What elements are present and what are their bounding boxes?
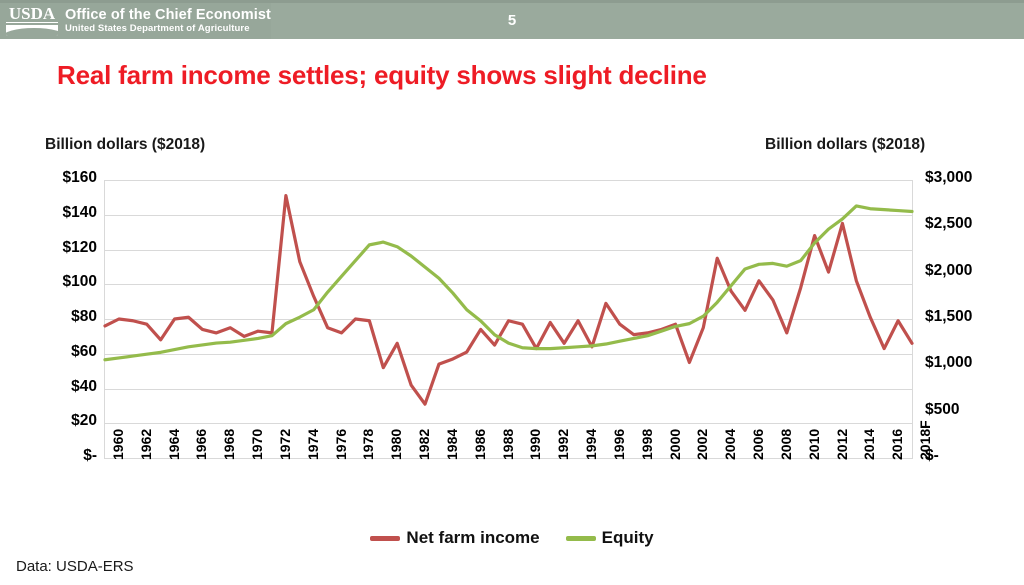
- x-axis-tick-label: 1988: [500, 429, 516, 460]
- right-axis-ticks: $3,000$2,500$2,000$1,500$1,000$500$-: [925, 180, 1020, 458]
- right-axis-tick-label: $2,500: [925, 215, 972, 233]
- x-axis-tick-label: 1964: [166, 429, 182, 460]
- series-line-equity: [105, 206, 912, 360]
- left-axis-caption: Billion dollars ($2018): [45, 136, 205, 154]
- legend-item[interactable]: Net farm income: [370, 528, 539, 548]
- left-axis-ticks: $160$140$120$100$80$60$40$20$-: [25, 180, 97, 458]
- header-bar: 5 USDA Office of the Chief Economist Uni…: [0, 0, 1024, 39]
- office-title: Office of the Chief Economist: [65, 8, 271, 23]
- x-axis-ticks: 1960196219641966196819701972197419761978…: [104, 460, 913, 524]
- x-axis-tick-label: 1974: [305, 429, 321, 460]
- x-axis-tick-label: 2000: [667, 429, 683, 460]
- right-axis-tick-label: $1,000: [925, 354, 972, 372]
- plot-area: [104, 180, 913, 458]
- x-axis-tick-label: 1976: [333, 429, 349, 460]
- left-axis-tick-label: $60: [71, 343, 97, 361]
- x-axis-tick-label: 2010: [806, 429, 822, 460]
- legend-item[interactable]: Equity: [566, 528, 654, 548]
- x-axis-tick-label: 1992: [555, 429, 571, 460]
- line-chart: $160$140$120$100$80$60$40$20$- $3,000$2,…: [0, 168, 1024, 468]
- x-axis-tick-label: 1980: [388, 429, 404, 460]
- x-axis-tick-label: 1978: [360, 429, 376, 460]
- x-axis-tick-label: 1960: [110, 429, 126, 460]
- x-axis-tick-label: 2012: [834, 429, 850, 460]
- x-axis-tick-label: 2014: [861, 429, 877, 460]
- header-branding: USDA Office of the Chief Economist Unite…: [0, 3, 271, 39]
- x-axis-tick-label: 1984: [444, 429, 460, 460]
- right-axis-tick-label: $1,500: [925, 308, 972, 326]
- left-axis-tick-label: $100: [63, 273, 97, 291]
- legend-label: Net farm income: [406, 528, 539, 548]
- page-title: Real farm income settles; equity shows s…: [57, 60, 707, 91]
- x-axis-tick-label: 1968: [221, 429, 237, 460]
- x-axis-tick-label: 2006: [750, 429, 766, 460]
- x-axis-tick-label: 2004: [722, 429, 738, 460]
- x-axis-tick-label: 1970: [249, 429, 265, 460]
- left-axis-tick-label: $120: [63, 239, 97, 257]
- x-axis-tick-label: 1996: [611, 429, 627, 460]
- left-axis-tick-label: $160: [63, 169, 97, 187]
- left-axis-tick-label: $40: [71, 378, 97, 396]
- x-axis-tick-label: 1986: [472, 429, 488, 460]
- usda-wordmark: USDA: [6, 6, 58, 23]
- x-axis-tick-label: 1982: [416, 429, 432, 460]
- left-axis-tick-label: $80: [71, 308, 97, 326]
- chart-legend: Net farm incomeEquity: [0, 528, 1024, 548]
- plot-svg: [104, 180, 913, 458]
- office-block: Office of the Chief Economist United Sta…: [65, 8, 271, 34]
- data-source-note: Data: USDA-ERS: [16, 558, 134, 575]
- right-axis-caption: Billion dollars ($2018): [765, 136, 925, 154]
- x-axis-tick-label: 2002: [694, 429, 710, 460]
- x-axis-tick-label: 1998: [639, 429, 655, 460]
- x-axis-tick-label: 1966: [193, 429, 209, 460]
- x-axis-tick-label: 2008: [778, 429, 794, 460]
- right-axis-tick-label: $2,000: [925, 262, 972, 280]
- legend-swatch-icon: [370, 536, 400, 541]
- right-axis-tick-label: $500: [925, 401, 959, 419]
- right-axis-tick-label: $3,000: [925, 169, 972, 187]
- x-axis-tick-label: 1962: [138, 429, 154, 460]
- usda-field-graphic: [6, 25, 58, 36]
- legend-label: Equity: [602, 528, 654, 548]
- left-axis-tick-label: $20: [71, 412, 97, 430]
- left-axis-tick-label: $-: [83, 447, 97, 465]
- x-axis-tick-label: 1972: [277, 429, 293, 460]
- office-subtitle: United States Department of Agriculture: [65, 24, 271, 34]
- x-axis-tick-label: 1994: [583, 429, 599, 460]
- x-axis-tick-label: 2016: [889, 429, 905, 460]
- x-axis-tick-label: 1990: [527, 429, 543, 460]
- series-line-net-farm-income: [105, 196, 912, 405]
- x-axis-tick-label: 2018F: [917, 420, 933, 460]
- left-axis-tick-label: $140: [63, 204, 97, 222]
- legend-swatch-icon: [566, 536, 596, 541]
- usda-logo-icon: USDA: [6, 6, 58, 36]
